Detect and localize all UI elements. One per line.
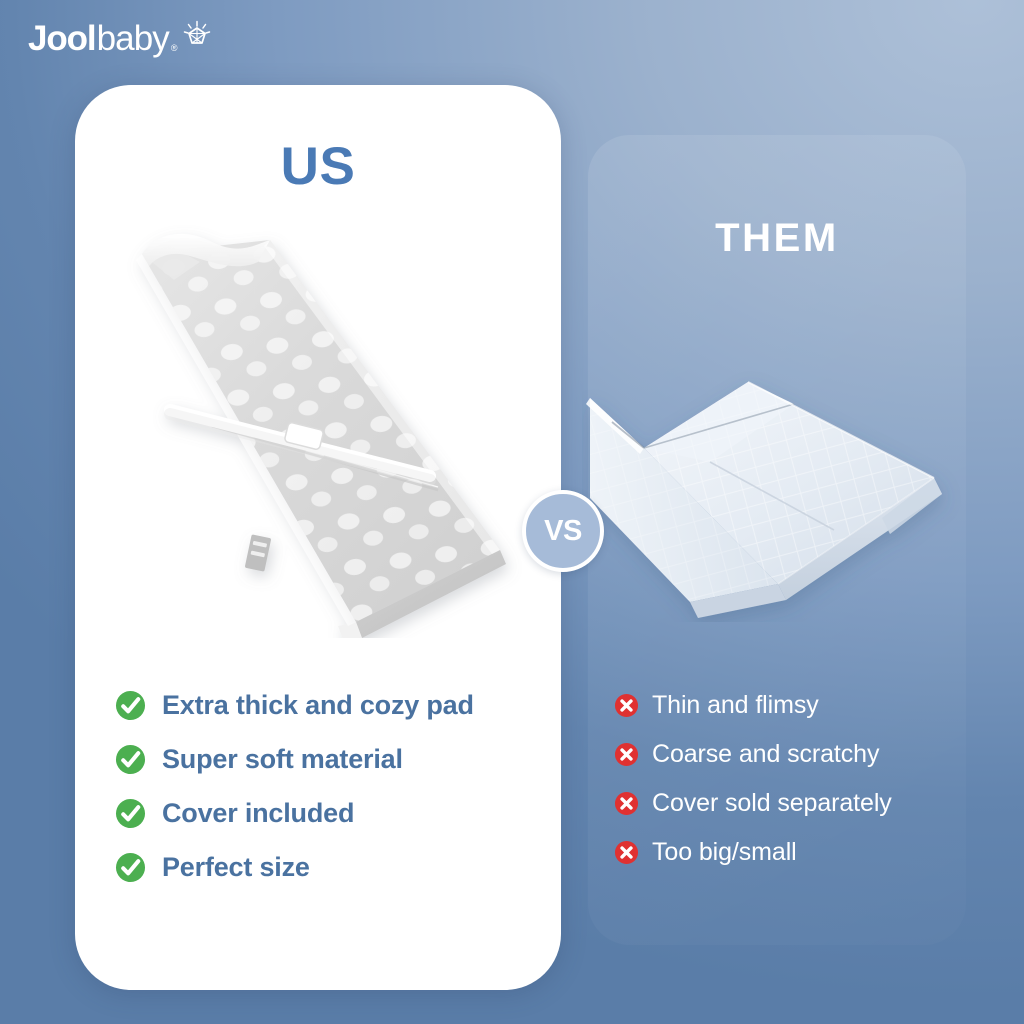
us-feature-list: Extra thick and cozy pad Super soft mate…: [115, 690, 545, 883]
brand-name-light: baby: [97, 21, 169, 56]
cross-circle-icon: [614, 693, 639, 718]
us-feature-label: Super soft material: [162, 745, 403, 774]
list-item: Extra thick and cozy pad: [115, 690, 545, 721]
list-item: Perfect size: [115, 852, 545, 883]
us-product-image: [108, 218, 528, 638]
them-feature-label: Cover sold separately: [652, 790, 892, 817]
us-heading: US: [75, 140, 561, 193]
us-feature-label: Cover included: [162, 799, 354, 828]
infographic-canvas: Joolbaby® US THEM: [0, 0, 1024, 1024]
vs-label: VS: [544, 517, 582, 546]
list-item: Cover included: [115, 798, 545, 829]
brand-name-bold: Jool: [28, 21, 96, 56]
list-item: Super soft material: [115, 744, 545, 775]
list-item: Cover sold separately: [614, 790, 964, 817]
us-feature-label: Extra thick and cozy pad: [162, 691, 474, 720]
cross-circle-icon: [614, 791, 639, 816]
cross-circle-icon: [614, 840, 639, 865]
cross-circle-icon: [614, 742, 639, 767]
check-circle-icon: [115, 690, 146, 721]
gem-sparkle-icon: [182, 20, 212, 50]
us-feature-label: Perfect size: [162, 853, 310, 882]
check-circle-icon: [115, 744, 146, 775]
them-heading: THEM: [588, 218, 966, 258]
them-feature-label: Coarse and scratchy: [652, 741, 879, 768]
check-circle-icon: [115, 852, 146, 883]
check-circle-icon: [115, 798, 146, 829]
vs-badge: VS: [522, 490, 604, 572]
them-product-image: [582, 352, 972, 622]
brand-logo: Joolbaby®: [28, 20, 212, 57]
them-feature-label: Too big/small: [652, 839, 797, 866]
registered-mark: ®: [171, 44, 178, 57]
list-item: Too big/small: [614, 839, 964, 866]
list-item: Thin and flimsy: [614, 692, 964, 719]
list-item: Coarse and scratchy: [614, 741, 964, 768]
them-feature-label: Thin and flimsy: [652, 692, 819, 719]
them-feature-list: Thin and flimsy Coarse and scratchy Cove…: [614, 692, 964, 866]
